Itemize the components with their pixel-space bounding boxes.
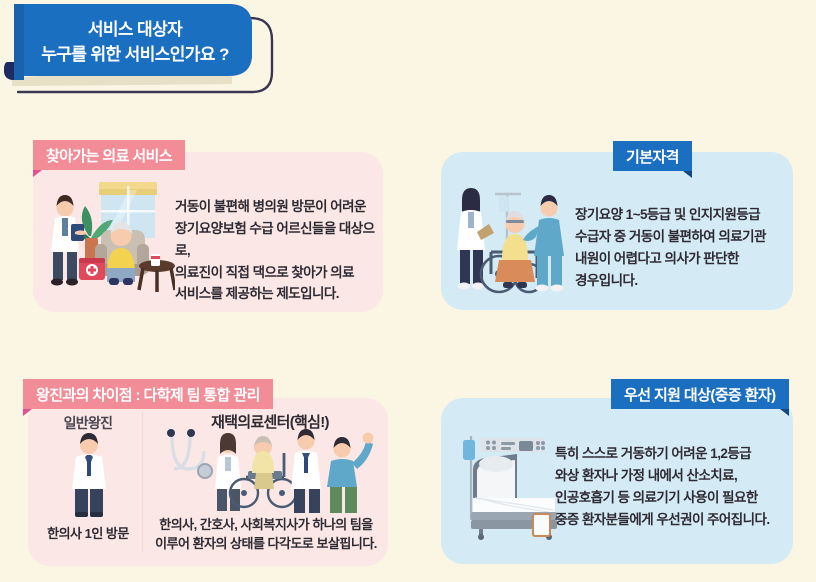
tab-basic: 기본자격: [613, 141, 692, 171]
illustration-single-doctor: [62, 433, 116, 522]
card-basic-body: 장기요양 1~5등급 및 인지지원등급 수급자 중 거동이 불편하여 의료기관 …: [575, 204, 790, 291]
illustration-wheelchair-care: [455, 178, 571, 307]
infographic-canvas: 장기요양 재택의료센터 시범사업이란? 서비스 대상자 누구를 위한 서비스인가…: [0, 0, 816, 582]
tab-compare: 왕진과의 차이점 : 다학제 팀 통합 관리: [23, 379, 273, 409]
card-reach-body: 거동이 불편해 병의원 방문이 어려운 장기요양보험 수급 어르신들을 대상으로…: [175, 196, 380, 305]
illustration-home-visit: [45, 178, 175, 308]
ribbon-shape-blue: [0, 0, 300, 105]
illustration-hospital-bed: [455, 428, 561, 545]
tab-reach: 찾아가는 의료 서비스: [33, 140, 185, 170]
compare-caption-right: 한의사, 간호사, 사회복지사가 하나의 팀을 이루어 환자의 상태를 다각도로…: [148, 516, 384, 554]
compare-heading-left: 일반왕진: [40, 413, 136, 433]
compare-divider: [142, 412, 143, 552]
illustration-care-team: [160, 427, 385, 518]
card-priority-body: 특히 스스로 거동하기 어려운 1,2등급 와상 환자나 가정 내에서 산소치료…: [555, 443, 795, 530]
header-ribbon-who-for: 서비스 대상자 누구를 위한 서비스인가요 ?: [0, 0, 300, 105]
tab-priority: 우선 지원 대상(중증 환자): [611, 379, 789, 409]
compare-caption-left: 한의사 1인 방문: [34, 525, 142, 544]
